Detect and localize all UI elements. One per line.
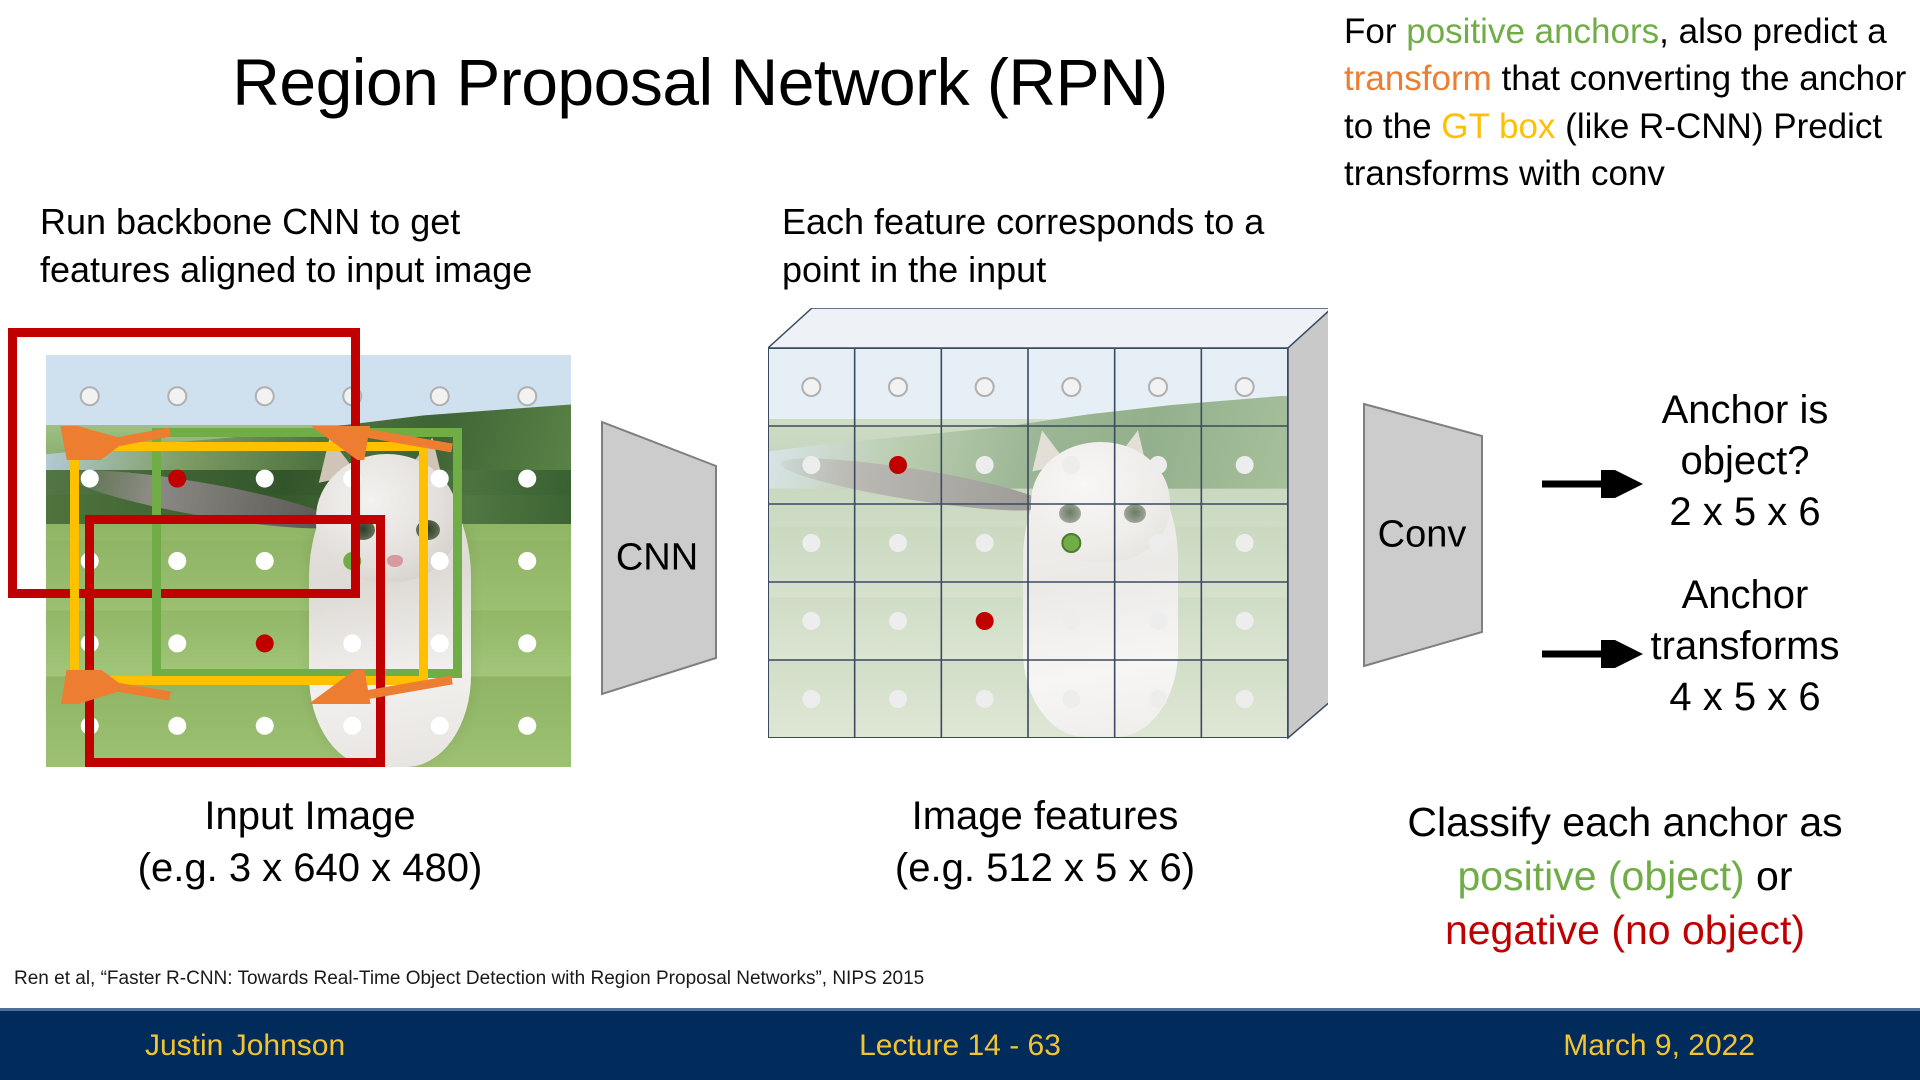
- caption-left-column: Run backbone CNN to get features aligned…: [40, 198, 600, 293]
- para-positive-anchors: positive anchors: [1406, 12, 1659, 51]
- feature-point-dot: [802, 612, 820, 630]
- feature-point-dot: [1149, 612, 1167, 630]
- summary-negative: negative (no object): [1330, 903, 1920, 957]
- feature-point-dot: [976, 378, 994, 396]
- feature-map-caption-line2: (e.g. 512 x 5 x 6): [760, 842, 1330, 894]
- output1-line3: 2 x 5 x 6: [1580, 487, 1910, 538]
- output2-line1: Anchor: [1580, 570, 1910, 621]
- feature-point-dot: [802, 456, 820, 474]
- anchor-point-dot: [518, 552, 536, 570]
- anchor-point-dot: [431, 717, 449, 735]
- output2-line2: transforms: [1580, 621, 1910, 672]
- feature-point-dot: [889, 378, 907, 396]
- transform-arrow-bottom: [60, 670, 460, 704]
- input-image-caption: Input Image (e.g. 3 x 640 x 480): [20, 790, 600, 894]
- para-transform: transform: [1344, 59, 1492, 98]
- anchor-point-dot: [518, 717, 536, 735]
- anchor-point-dot: [518, 387, 536, 405]
- anchor-point-dot: [518, 634, 536, 652]
- feature-point-dot: [1062, 456, 1080, 474]
- para-text-a: For: [1344, 12, 1406, 51]
- summary-positive: positive (object): [1458, 853, 1745, 899]
- transform-arrow-top: [60, 426, 460, 460]
- feature-point-dot: [1149, 690, 1167, 708]
- feature-point-dot: [976, 456, 994, 474]
- input-image-caption-line2: (e.g. 3 x 640 x 480): [20, 842, 600, 894]
- feature-point-dot: [1236, 378, 1254, 396]
- feature-point-dot: [1062, 690, 1080, 708]
- feature-point-dot: [1236, 534, 1254, 552]
- feature-point-dot: [802, 690, 820, 708]
- feature-point-dot: [976, 612, 994, 630]
- summary-or: or: [1745, 853, 1793, 899]
- anchor-point-dot: [518, 470, 536, 488]
- feature-map-diagram: [768, 308, 1328, 788]
- slide-footer: Justin Johnson Lecture 14 - 63 March 9, …: [0, 1008, 1920, 1080]
- feature-map-grid: [768, 348, 1288, 738]
- cnn-block: CNN: [598, 418, 753, 698]
- feature-point-dot: [889, 690, 907, 708]
- feature-point-dot: [889, 534, 907, 552]
- input-image-caption-line1: Input Image: [20, 790, 600, 842]
- output1-line1: Anchor is: [1580, 385, 1910, 436]
- caption-middle-column: Each feature corresponds to a point in t…: [782, 198, 1302, 293]
- conv-block: Conv: [1360, 400, 1510, 670]
- feature-point-dot: [976, 534, 994, 552]
- conv-label: Conv: [1364, 514, 1480, 557]
- feature-point-dot: [1149, 534, 1167, 552]
- classification-summary: Classify each anchor as positive (object…: [1330, 795, 1920, 957]
- input-image-diagram: [0, 320, 620, 820]
- slide-root: Region Proposal Network (RPN) Run backbo…: [0, 0, 1920, 1080]
- page-title: Region Proposal Network (RPN): [110, 48, 1290, 117]
- feature-point-dot: [1236, 456, 1254, 474]
- feature-map-caption: Image features (e.g. 512 x 5 x 6): [760, 790, 1330, 894]
- feature-point-dot: [1062, 378, 1080, 396]
- cnn-label: CNN: [598, 537, 716, 580]
- output-label-classification: Anchor is object? 2 x 5 x 6: [1580, 385, 1910, 537]
- anchor-point-dot: [431, 387, 449, 405]
- feature-point-dot: [889, 456, 907, 474]
- feature-point-dot: [802, 534, 820, 552]
- feature-point-dot: [976, 690, 994, 708]
- summary-line2: positive (object) or: [1330, 849, 1920, 903]
- right-explanation-paragraph: For positive anchors, also predict a tra…: [1344, 8, 1920, 197]
- para-text-d: (like R-CNN): [1555, 107, 1763, 146]
- feature-map-caption-line1: Image features: [760, 790, 1330, 842]
- feature-point-dot: [802, 378, 820, 396]
- negative-anchor-box-2: [85, 515, 385, 767]
- output-label-regression: Anchor transforms 4 x 5 x 6: [1580, 570, 1910, 722]
- feature-point-dot: [1236, 690, 1254, 708]
- feature-point-dot: [889, 612, 907, 630]
- feature-point-dot: [1236, 612, 1254, 630]
- feature-point-dot: [1149, 378, 1167, 396]
- footer-date: March 9, 2022: [1563, 1029, 1755, 1063]
- output2-line3: 4 x 5 x 6: [1580, 672, 1910, 723]
- feature-point-dot: [1062, 612, 1080, 630]
- feature-point-dot: [1149, 456, 1167, 474]
- para-text-b: , also predict a: [1659, 12, 1887, 51]
- para-gt-box: GT box: [1441, 107, 1555, 146]
- output1-line2: object?: [1580, 436, 1910, 487]
- summary-line1: Classify each anchor as: [1330, 795, 1920, 849]
- feature-point-dot: [1062, 534, 1080, 552]
- citation-text: Ren et al, “Faster R-CNN: Towards Real-T…: [14, 968, 924, 990]
